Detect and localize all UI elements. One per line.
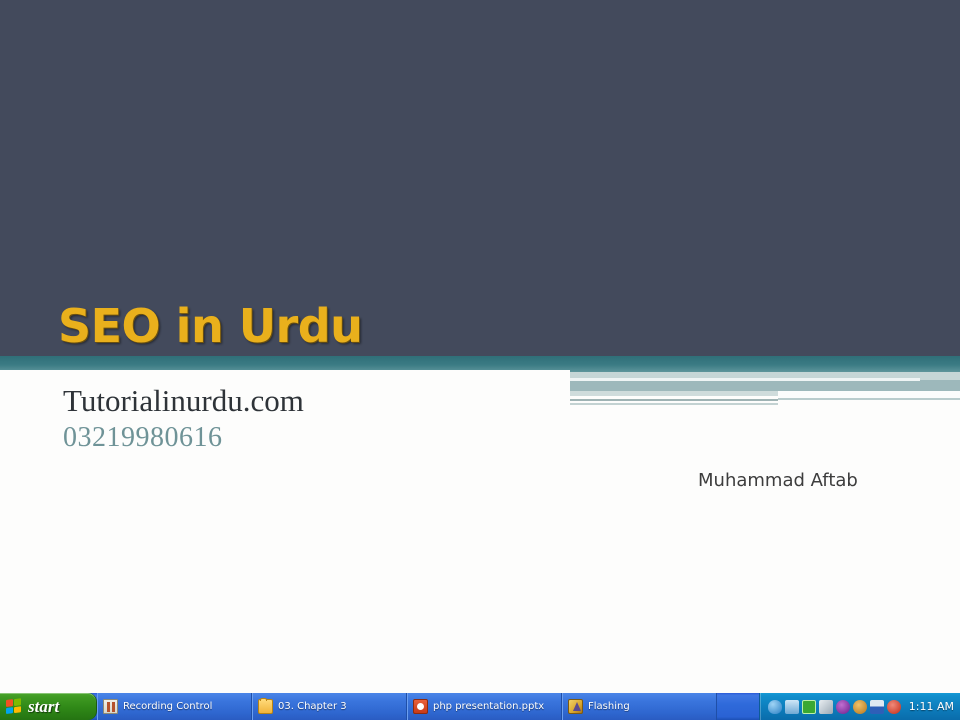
shield-icon[interactable]	[768, 700, 782, 714]
plug-icon[interactable]	[819, 700, 833, 714]
green-app-icon[interactable]	[802, 700, 816, 714]
slide-title: SEO in Urdu	[58, 299, 362, 353]
network-icon[interactable]	[785, 700, 799, 714]
slide-accent-band-2	[570, 380, 960, 391]
slide-accent-hairline-1	[570, 399, 778, 401]
taskbar-item-recording-control[interactable]: Recording Control	[97, 693, 252, 720]
purple-app-icon[interactable]	[836, 700, 850, 714]
taskbar-item-chapter-folder[interactable]: 03. Chapter 3	[252, 693, 407, 720]
powerpoint-icon	[413, 699, 428, 714]
taskbar-task-list: Recording Control 03. Chapter 3 php pres…	[97, 693, 759, 720]
sound-recorder-icon	[103, 699, 118, 714]
folder-icon	[258, 699, 273, 714]
slide-accent-notch-edge	[778, 398, 960, 400]
slide-accent-hairline-2	[570, 403, 778, 405]
start-button[interactable]: start	[0, 693, 97, 720]
taskbar-item-label: php presentation.pptx	[433, 701, 544, 712]
taskbar: start Recording Control 03. Chapter 3 ph…	[0, 693, 960, 720]
slide-presenter-name: Muhammad Aftab	[698, 470, 858, 491]
taskbar-item-php-presentation[interactable]: php presentation.pptx	[407, 693, 562, 720]
windows-flag-icon	[6, 697, 23, 715]
presentation-slide[interactable]: SEO in Urdu Tutorialinurdu.com 032199806…	[0, 0, 960, 693]
flash-app-icon	[568, 699, 583, 714]
blue-app-icon[interactable]	[870, 700, 884, 714]
taskbar-item-flashing[interactable]: Flashing	[562, 693, 717, 720]
desktop-screen: SEO in Urdu Tutorialinurdu.com 032199806…	[0, 0, 960, 720]
slide-subtitle-phone: 03219980616	[63, 422, 223, 454]
red-app-icon[interactable]	[887, 700, 901, 714]
system-tray: 1:11 AM	[759, 693, 960, 720]
taskbar-clock[interactable]: 1:11 AM	[909, 700, 954, 713]
orange-app-icon[interactable]	[853, 700, 867, 714]
taskbar-item-label: Flashing	[588, 701, 630, 712]
taskbar-item-label: Recording Control	[123, 701, 212, 712]
slide-accent-highlight	[570, 378, 920, 381]
slide-subtitle-website: Tutorialinurdu.com	[63, 383, 304, 419]
start-button-label: start	[28, 698, 59, 715]
taskbar-item-label: 03. Chapter 3	[278, 701, 347, 712]
